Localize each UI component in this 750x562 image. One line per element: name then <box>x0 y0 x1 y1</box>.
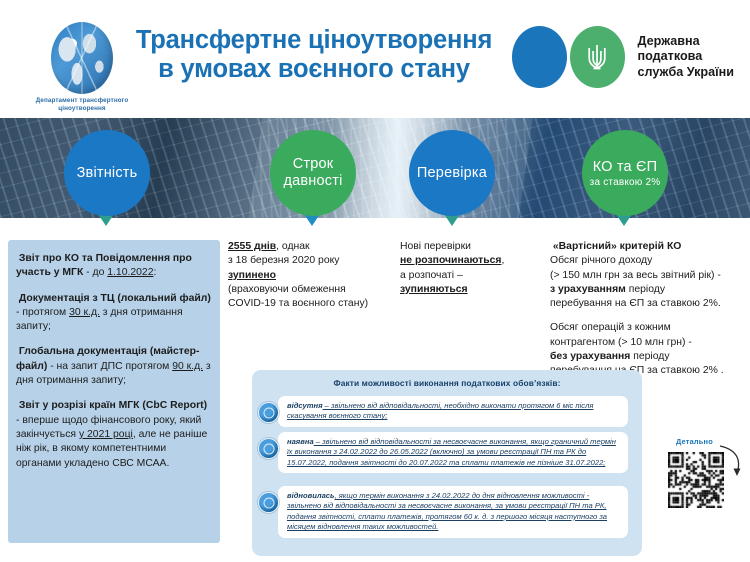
reporting-item: Глобальна документація (майстер-файл) - … <box>16 345 212 388</box>
target-circle-icon <box>258 438 279 459</box>
ko-ep-column: «Вартісний» критерій КО Обсяг річного до… <box>550 240 746 389</box>
circle-audit-label: Перевірка <box>417 165 487 182</box>
limitation-from-date: з 18 березня 2020 року <box>228 255 339 266</box>
page-title-line1: Трансфертне ціноутворення <box>118 26 510 55</box>
header: Департамент трансфертного ціноутворення … <box>0 0 750 118</box>
facts-panel: Факти можливості виконання податкових об… <box>252 370 642 556</box>
fact-item: відновилась, якщо термін виконання з 24.… <box>278 486 628 538</box>
audit-column: Нові перевірки не розпочинаються, а розп… <box>400 240 540 297</box>
circle-ko-ep[interactable]: КО та ЄП за ставкою 2% <box>582 130 668 216</box>
brand-text-line1: Державна <box>638 34 734 50</box>
circle-reporting-label: Звітність <box>77 165 138 182</box>
brand-blue-circle <box>512 26 567 88</box>
page-title-line2: в умовах воєнного стану <box>118 55 510 84</box>
facts-panel-title: Факти можливості виконання податкових об… <box>252 378 642 388</box>
circle-ko-ep-label: КО та ЄП за ставкою 2% <box>590 158 661 189</box>
fact-lead: наявна <box>287 437 314 446</box>
circle-reporting[interactable]: Звітність <box>64 130 150 216</box>
qr-detail-label: Детально <box>676 437 713 446</box>
fact-item: відсутня – звільнено від відповідальност… <box>278 396 628 427</box>
brand-text-line3: служба України <box>638 65 734 81</box>
fact-body: – звільнено від відповідальності, необхі… <box>287 401 593 420</box>
fact-lead: відновилась <box>287 491 335 500</box>
reporting-column: Звіт про КО та Повідомлення про участь у… <box>16 252 212 482</box>
reporting-item: Документація з ТЦ (локальний файл) - про… <box>16 292 212 335</box>
qr-code-block[interactable] <box>668 452 724 513</box>
limitation-column: 2555 днів, однак з 18 березня 2020 року … <box>228 240 390 311</box>
globe-icon <box>51 22 113 94</box>
ko-ep-criterion: «Вартісний» критерій КО Обсяг річного до… <box>550 240 746 311</box>
circle-limitation-period[interactable]: Строк давності <box>270 130 356 216</box>
brand-text: Державна податкова служба України <box>638 34 734 81</box>
tax-service-brand: Державна податкова служба України <box>512 26 734 88</box>
brand-green-circle <box>570 26 625 88</box>
fact-body: – звільнено від відповідальності за несв… <box>287 437 616 467</box>
audit-not-started: не розпочинаються <box>400 255 501 266</box>
fact-lead: відсутня <box>287 401 323 410</box>
reporting-item: Звіт у розрізі країн МГК (CbC Report) - … <box>16 399 212 470</box>
limitation-days: 2555 днів <box>228 241 276 252</box>
infographic-page: Департамент трансфертного ціноутворення … <box>0 0 750 562</box>
target-circle-icon <box>258 492 279 513</box>
limitation-status: зупинено <box>228 270 276 281</box>
page-title: Трансфертне ціноутворення в умовах воєнн… <box>118 26 510 84</box>
department-logo-caption: Департамент трансфертного ціноутворення <box>30 97 134 113</box>
brand-text-line2: податкова <box>638 49 734 65</box>
qr-code-icon[interactable] <box>668 452 724 508</box>
fact-body: , якщо термін виконання з 24.02.2022 до … <box>287 491 607 531</box>
reporting-item: Звіт про КО та Повідомлення про участь у… <box>16 252 212 281</box>
fact-item: наявна – звільнено від відповідальності … <box>278 432 628 473</box>
circle-audit[interactable]: Перевірка <box>409 130 495 216</box>
target-circle-icon <box>258 402 279 423</box>
circle-limitation-period-label: Строк давності <box>283 156 342 190</box>
tryzub-icon <box>586 42 608 72</box>
audit-suspended: зупиняються <box>400 284 468 295</box>
